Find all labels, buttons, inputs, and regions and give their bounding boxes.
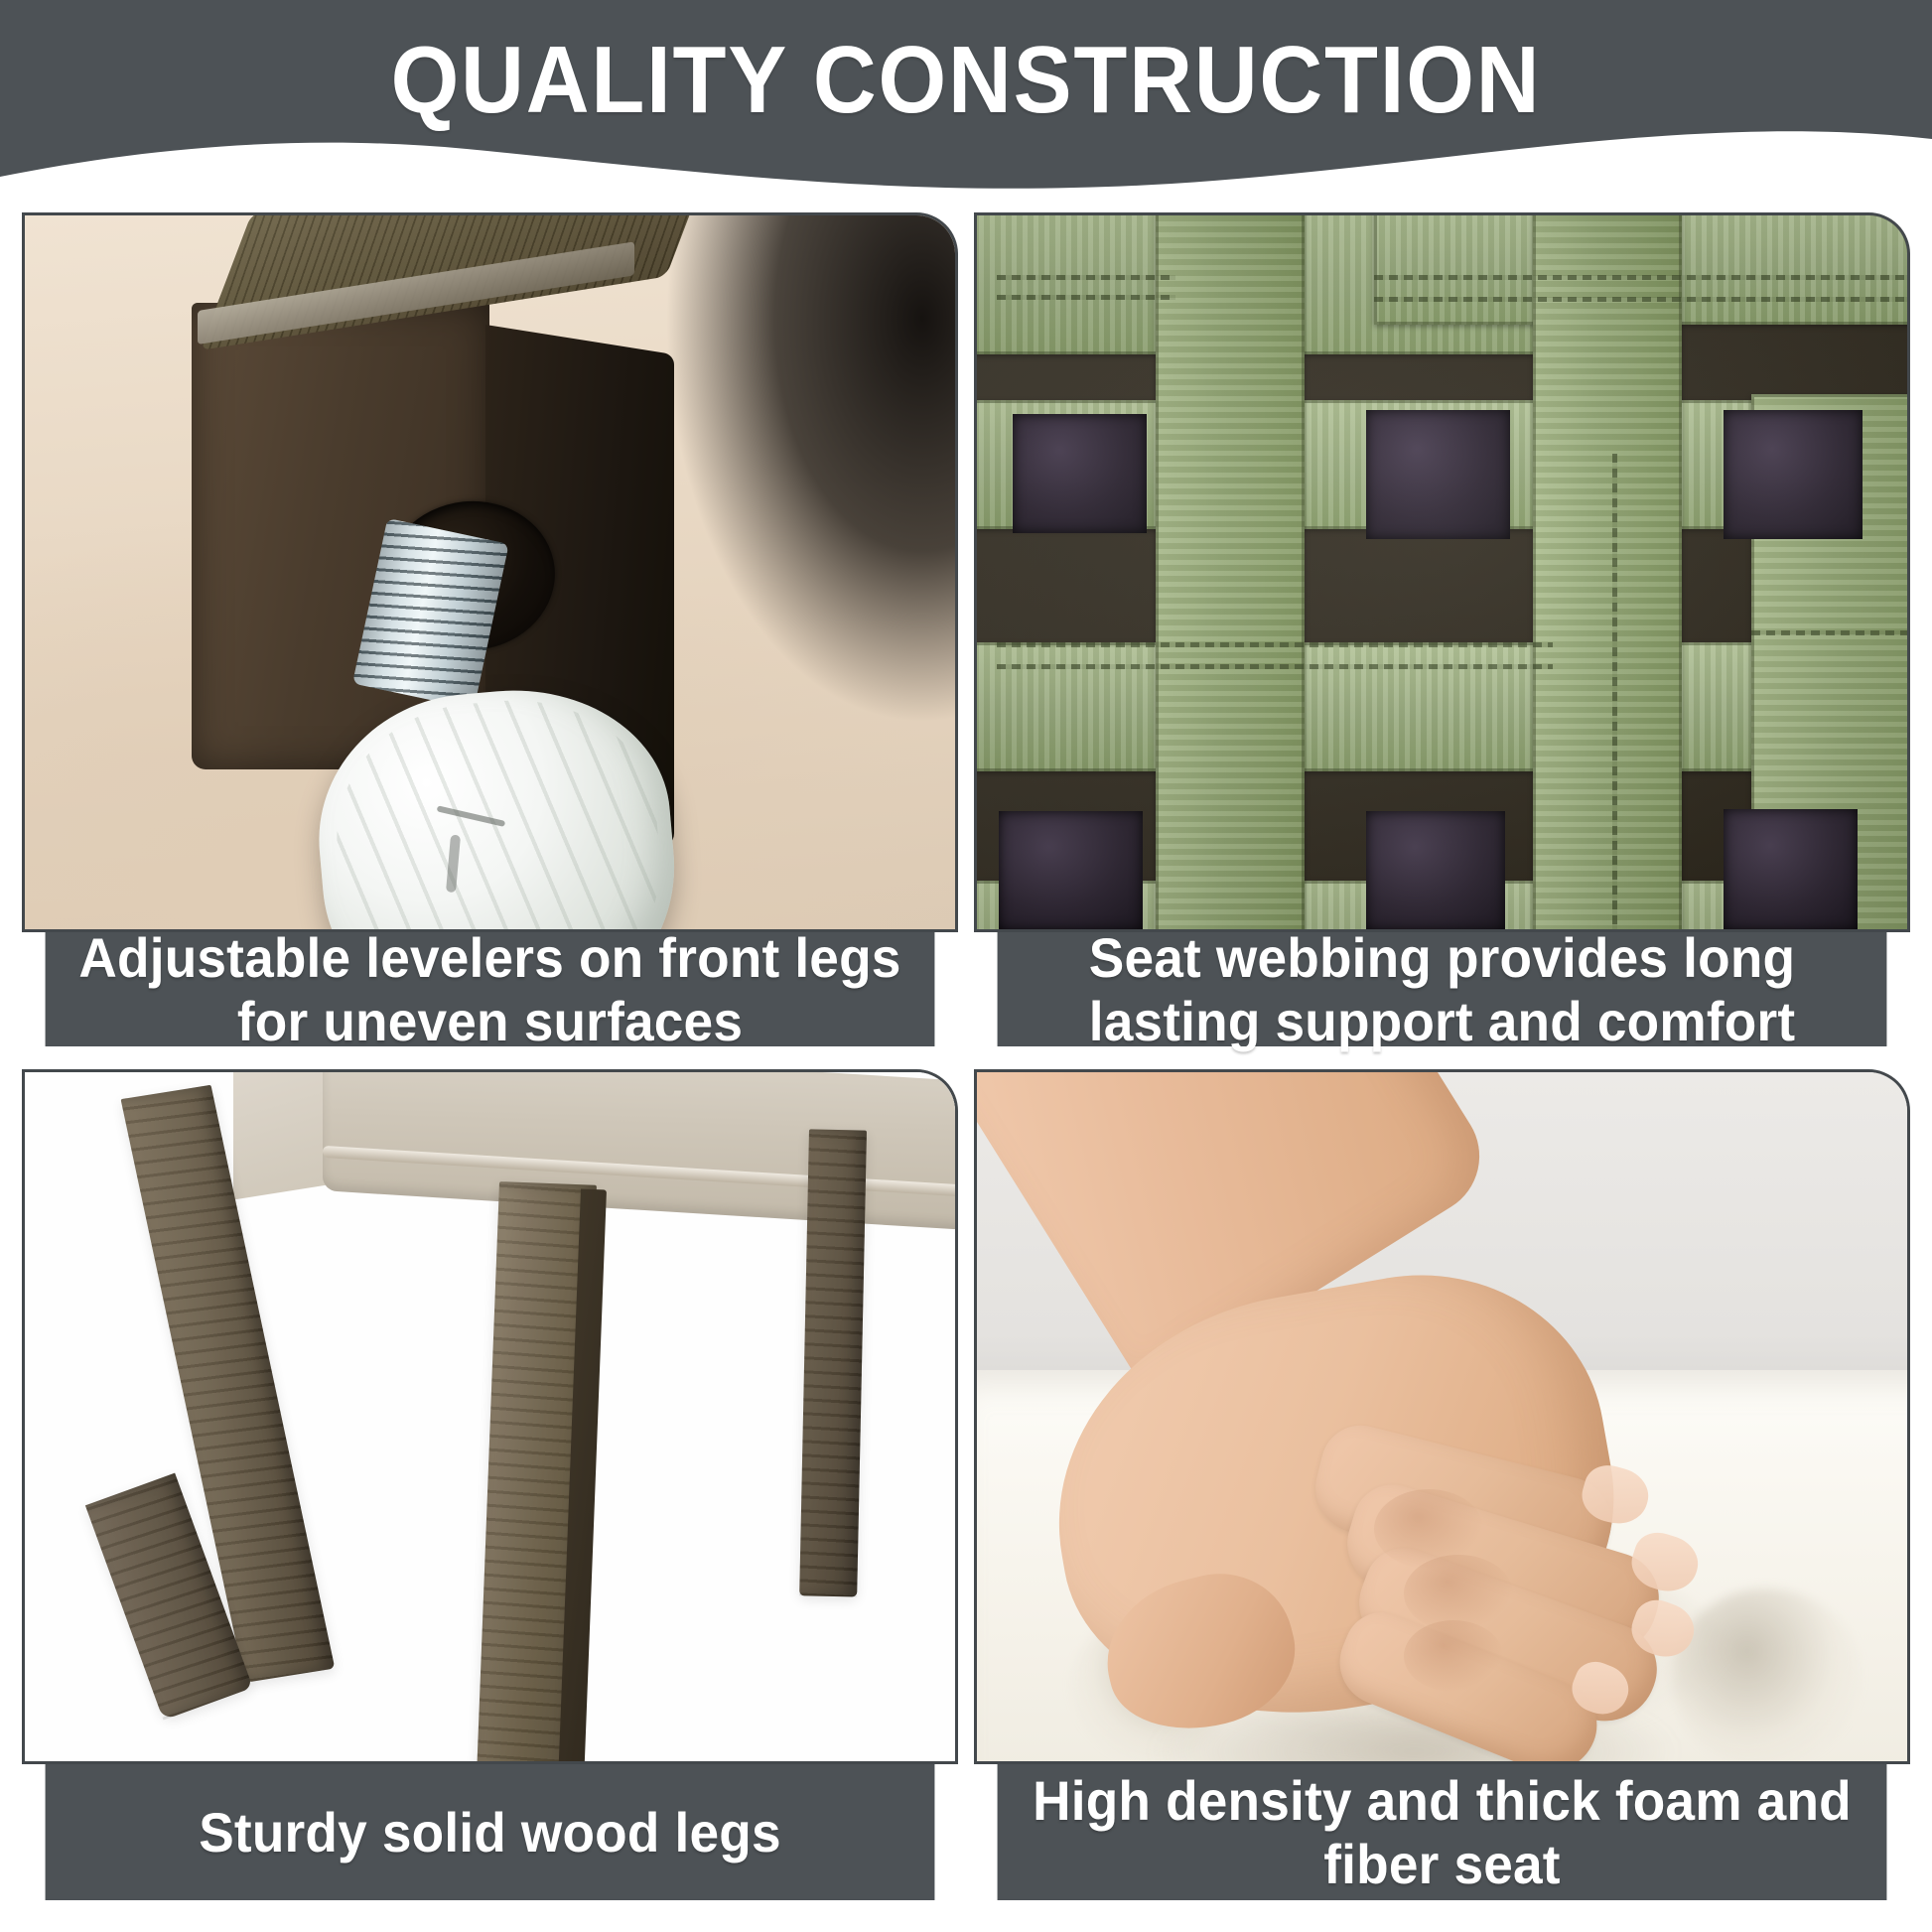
wood-leg-rear-right: [799, 1129, 867, 1596]
foam-photo: [974, 1069, 1910, 1764]
feature-panel-adjustable-levelers[interactable]: Adjustable levelers on front legs for un…: [22, 212, 958, 1046]
webbing-photo: [974, 212, 1910, 932]
infographic-page: QUALITY CONSTRUCTION: [0, 0, 1932, 1932]
plastic-leveler-foot: [307, 677, 686, 932]
feature-panel-high-density-foam[interactable]: High density and thick foam and fiber se…: [974, 1069, 1910, 1900]
wood-grain-texture: [799, 1129, 867, 1596]
leveler-photo: [22, 212, 958, 932]
webbing-lighting-overlay: [974, 212, 1910, 932]
feature-grid: Adjustable levelers on front legs for un…: [22, 212, 1910, 1900]
caption-seat-webbing: Seat webbing provides long lasting suppo…: [998, 932, 1887, 1046]
page-title: QUALITY CONSTRUCTION: [77, 26, 1855, 135]
feature-panel-seat-webbing[interactable]: Seat webbing provides long lasting suppo…: [974, 212, 1910, 1046]
feature-panel-solid-wood-legs[interactable]: Sturdy solid wood legs: [22, 1069, 958, 1900]
header-banner: QUALITY CONSTRUCTION: [0, 0, 1932, 199]
caption-high-density-foam: High density and thick foam and fiber se…: [998, 1764, 1887, 1900]
pressing-hand: [974, 1069, 1771, 1764]
caption-solid-wood-legs: Sturdy solid wood legs: [46, 1764, 935, 1900]
caption-adjustable-levelers: Adjustable levelers on front legs for un…: [46, 932, 935, 1046]
wood-legs-photo: [22, 1069, 958, 1764]
knuckle: [1404, 1620, 1503, 1692]
wood-leg-corner: [192, 215, 688, 801]
